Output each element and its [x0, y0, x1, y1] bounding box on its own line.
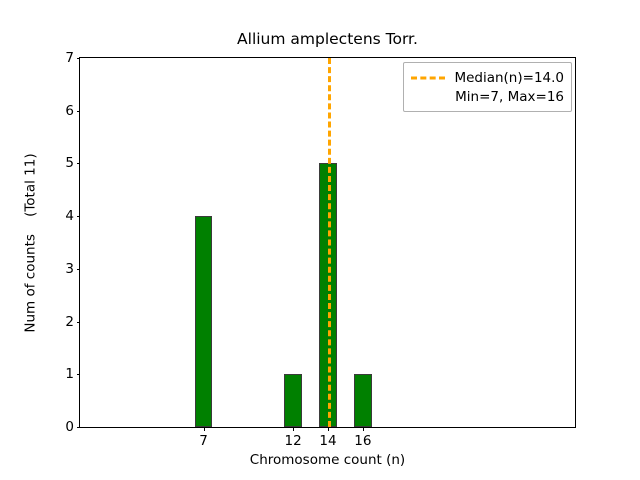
y-tick-label-6: 6: [65, 103, 74, 119]
x-axis-label: Chromosome count (n): [79, 452, 576, 468]
y-tick-label-3: 3: [65, 261, 74, 277]
median-line-swatch-icon: [411, 72, 445, 84]
y-tick-label-2: 2: [65, 314, 74, 330]
y-axis-label-text: Num of counts (Total 11): [23, 153, 39, 332]
plot-area: 0 1 2 3 4 5 6 7: [79, 57, 576, 428]
chart-title: Allium amplectens Torr.: [79, 30, 576, 48]
legend-row-median: Median(n)=14.0: [411, 68, 564, 87]
legend: Median(n)=14.0 Min=7, Max=16: [403, 62, 572, 112]
bar-12: [284, 374, 302, 427]
y-tick-label-0: 0: [65, 419, 74, 435]
x-tick-label-0: 7: [199, 433, 208, 449]
y-tick-label-4: 4: [65, 208, 74, 224]
x-tick-label-3: 16: [354, 433, 371, 449]
x-tick-label-1: 12: [285, 433, 302, 449]
x-tick-label-2: 14: [319, 433, 336, 449]
y-tick-label-1: 1: [65, 366, 74, 382]
chart-figure: Allium amplectens Torr. Num of counts (T…: [0, 0, 640, 480]
plot-inner: [80, 58, 575, 427]
bar-16: [354, 374, 372, 427]
y-tick-label-7: 7: [65, 50, 74, 66]
y-tick-label-5: 5: [65, 155, 74, 171]
legend-row-minmax: Min=7, Max=16: [411, 87, 564, 106]
y-axis-label: Num of counts (Total 11): [22, 57, 40, 428]
legend-label-median: Median(n)=14.0: [454, 70, 564, 86]
bar-7: [195, 216, 213, 427]
legend-label-minmax: Min=7, Max=16: [454, 89, 564, 105]
blank-swatch-icon: [411, 91, 445, 103]
median-line: [328, 58, 331, 427]
